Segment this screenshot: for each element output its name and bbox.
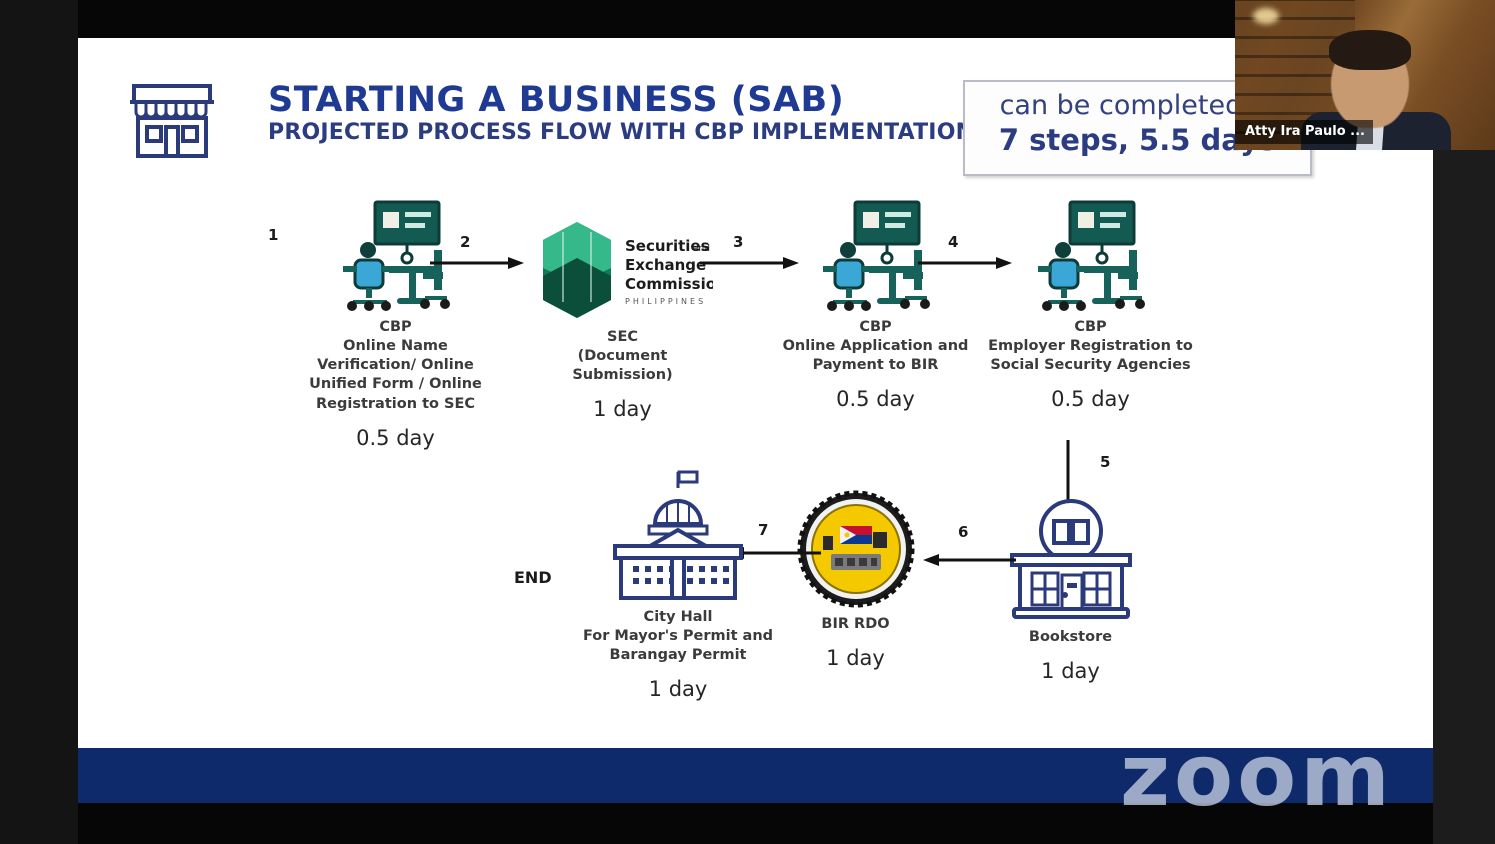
flow-node-cbp-employer-registration: CBP Employer Registration to Social Secu… [983, 198, 1198, 411]
flow-node-duration: 1 day [568, 677, 788, 701]
participant-name-label: Atty Ira Paulo ... [1235, 120, 1373, 144]
flow-node-duration: 1 day [768, 646, 943, 670]
flow-node-city-hall: City Hall For Mayor's Permit and Baranga… [568, 468, 788, 701]
city-hall-icon [603, 468, 753, 603]
flow-node-bookstore: Bookstore 1 day [983, 493, 1158, 683]
flow-node-cbp-name-verification: CBP Online Name Verification/ Online Uni… [283, 198, 508, 450]
flow-node-duration: 1 day [525, 397, 720, 421]
flow-node-duration: 1 day [983, 659, 1158, 683]
flow-node-caption: SEC (Document Submission) [525, 328, 720, 385]
zoom-meeting-screen: STARTING A BUSINESS (SAB) PROJECTED PROC… [0, 0, 1495, 844]
svg-text:PHILIPPINES: PHILIPPINES [625, 297, 706, 306]
flow-node-duration: 0.5 day [768, 387, 983, 411]
presentation-slide: STARTING A BUSINESS (SAB) PROJECTED PROC… [78, 38, 1433, 803]
step-number-6: 6 [958, 523, 968, 541]
page-subtitle: PROJECTED PROCESS FLOW WITH CBP IMPLEMEN… [268, 121, 974, 145]
flow-node-bir-rdo: BIR RDO 1 day [768, 488, 943, 670]
svg-text:Commission: Commission [625, 275, 713, 293]
bookstore-icon [1006, 493, 1136, 623]
flow-node-duration: 0.5 day [983, 387, 1198, 411]
flow-node-caption: City Hall For Mayor's Permit and Baranga… [568, 608, 788, 665]
letterbox-left [0, 0, 78, 844]
video-background-lamp [1253, 8, 1279, 24]
step-number-2: 2 [460, 233, 470, 251]
flow-node-caption: BIR RDO [768, 615, 943, 634]
step-number-3: 3 [733, 233, 743, 251]
zoom-watermark: zoom [1120, 726, 1394, 826]
sec-logo: Securities and Exchange Commission PHILI… [533, 218, 713, 323]
flow-node-duration: 0.5 day [283, 426, 508, 450]
flow-node-caption: CBP Online Application and Payment to BI… [768, 318, 983, 375]
flow-node-caption: Bookstore [983, 628, 1158, 647]
flow-node-caption: CBP Online Name Verification/ Online Uni… [283, 318, 508, 414]
step-number-5: 5 [1100, 453, 1110, 471]
end-label: END [514, 568, 552, 587]
flow-node-caption: CBP Employer Registration to Social Secu… [983, 318, 1198, 375]
page-title: STARTING A BUSINESS (SAB) [268, 82, 974, 118]
flow-node-sec: Securities and Exchange Commission PHILI… [525, 218, 720, 421]
flow-arrow-1-2 [428, 253, 528, 273]
svg-text:Exchange: Exchange [625, 256, 706, 274]
slide-title-block: STARTING A BUSINESS (SAB) PROJECTED PROC… [268, 82, 974, 146]
step-number-4: 4 [948, 233, 958, 251]
flow-node-cbp-bir-payment: CBP Online Application and Payment to BI… [768, 198, 983, 411]
participant-hair [1329, 30, 1411, 70]
cbp-desk-icon [1032, 198, 1150, 313]
participant-video-tile[interactable]: Atty Ira Paulo ... [1235, 0, 1495, 150]
step-number-1: 1 [268, 226, 278, 244]
storefront-icon [128, 80, 216, 160]
